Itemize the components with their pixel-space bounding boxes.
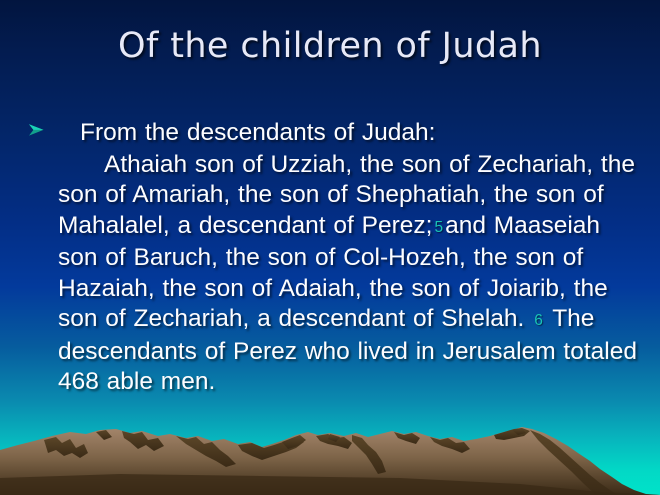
verse-number-5: 5 bbox=[432, 219, 445, 236]
arrow-head-bullet-icon bbox=[28, 123, 46, 137]
mountain-range-graphic bbox=[0, 420, 660, 495]
scripture-text-container: From the descendants of Judah: Athaiah s… bbox=[58, 118, 640, 398]
scripture-passage: Athaiah son of Uzziah, the son of Zechar… bbox=[58, 150, 640, 398]
verse-number-6: 6 bbox=[532, 312, 545, 329]
lead-in-line: From the descendants of Judah: bbox=[58, 118, 640, 149]
bulleted-paragraph-row: From the descendants of Judah: Athaiah s… bbox=[28, 118, 640, 398]
presentation-slide: Of the children of Judah From the descen… bbox=[0, 0, 660, 495]
slide-title: Of the children of Judah bbox=[0, 26, 660, 66]
slide-body-content: From the descendants of Judah: Athaiah s… bbox=[28, 118, 640, 398]
